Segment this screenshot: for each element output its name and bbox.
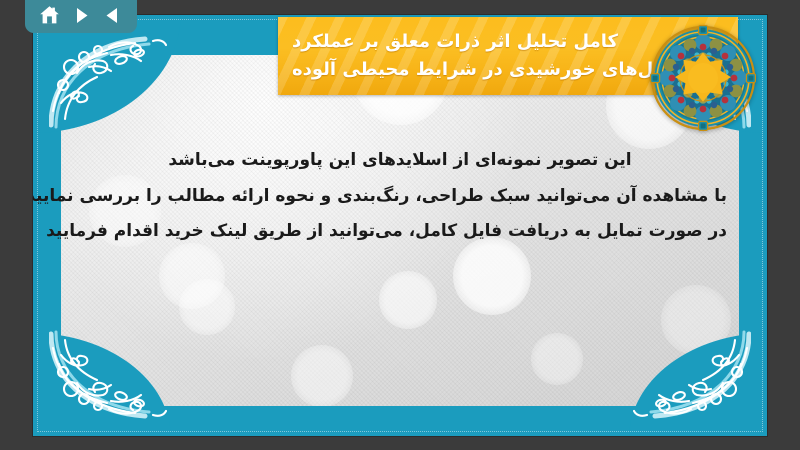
bokeh-circle [291,345,353,406]
slide-navigation-bar [25,0,137,33]
previous-slide-button[interactable] [100,4,124,26]
bokeh-circle [379,271,437,329]
persian-mandala-medallion [650,25,756,131]
next-slide-button[interactable] [69,4,93,26]
slide-body-line-2: با مشاهده آن می‌توانید سبک طراحی، رنگ‌بن… [73,179,727,215]
slide-canvas[interactable]: کامل تحلیل اثر ذرات معلق بر عملکرد سلول‌… [33,15,767,436]
slide-title-line-2: سلول‌های خورشیدی در شرایط محیطی آلوده [292,56,690,84]
slide-body-line-3: در صورت تمایل به دریافت فایل کامل، می‌تو… [73,214,727,250]
triangle-right-icon [72,6,91,25]
slide-body-text: این تصویر نمونه‌ای از اسلایدهای این پاور… [73,143,727,250]
triangle-left-icon [103,6,122,25]
home-button[interactable] [38,4,62,26]
bokeh-circle [159,243,225,309]
home-icon [39,5,60,25]
bokeh-circle [531,333,583,385]
presentation-viewer: کامل تحلیل اثر ذرات معلق بر عملکرد سلول‌… [0,0,800,450]
bokeh-circle [179,279,235,335]
slide-body-line-1: این تصویر نمونه‌ای از اسلایدهای این پاور… [73,143,727,179]
slide-title-line-1: کامل تحلیل اثر ذرات معلق بر عملکرد [292,28,618,56]
